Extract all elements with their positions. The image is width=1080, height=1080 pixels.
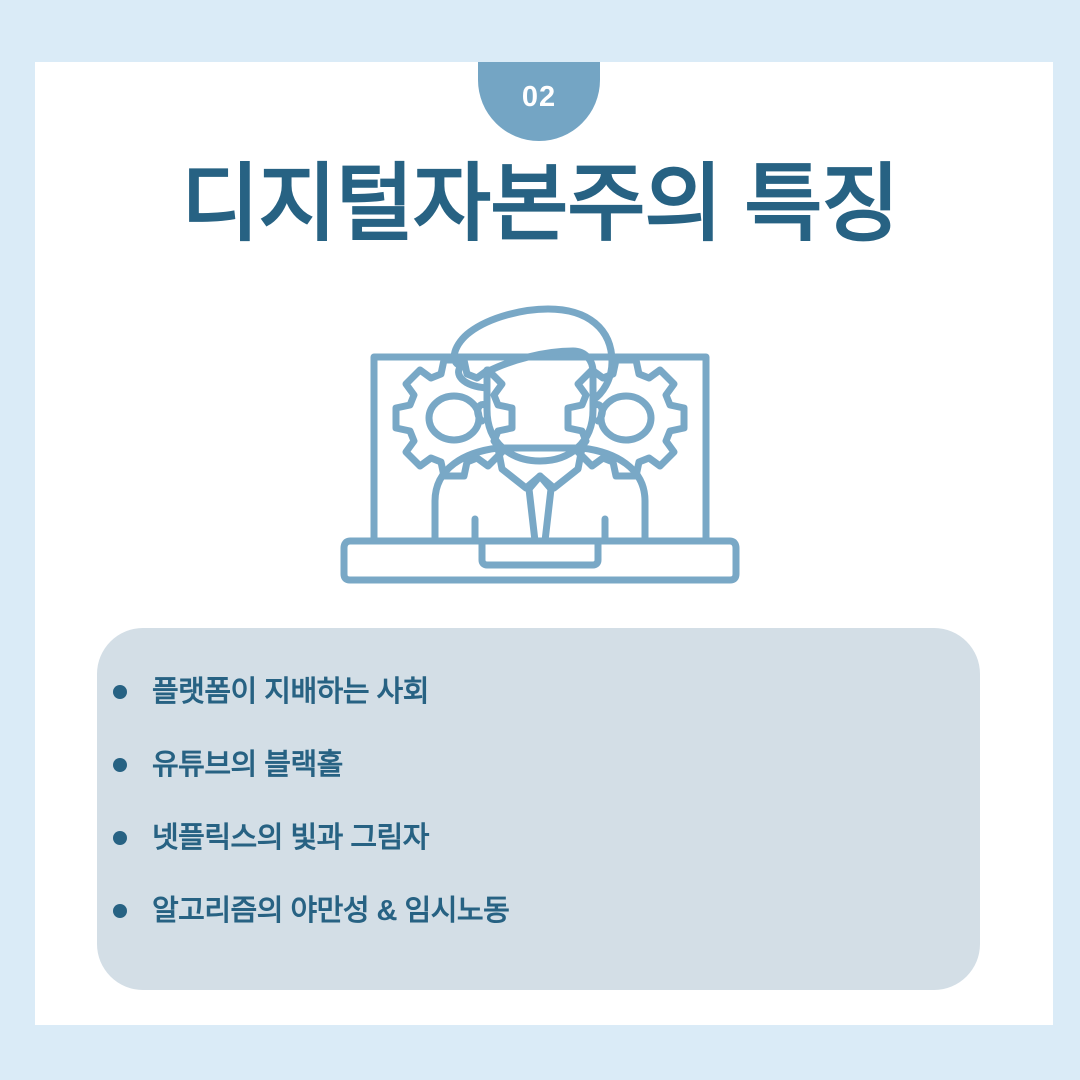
- laptop-base: [344, 541, 736, 580]
- bullet-dot-icon: [113, 831, 127, 845]
- businessman-laptop-gears-illustration: [330, 288, 750, 588]
- gear-left: [396, 360, 512, 476]
- list-item: 플랫폼이 지배하는 사회: [113, 664, 873, 720]
- list-item: 유튜브의 블랙홀: [113, 737, 873, 793]
- bullet-dot-icon: [113, 685, 127, 699]
- bullet-dot-icon: [113, 758, 127, 772]
- bullet-label: 넷플릭스의 빛과 그림자: [152, 824, 429, 853]
- list-item: 넷플릭스의 빛과 그림자: [113, 810, 873, 866]
- bullet-label: 유튜브의 블랙홀: [152, 751, 343, 780]
- page-title: 디지털자본주의 특징: [0, 156, 1080, 254]
- bullet-list: 플랫폼이 지배하는 사회 유튜브의 블랙홀 넷플릭스의 빛과 그림자 알고리즘의…: [113, 664, 873, 939]
- person-tie: [529, 476, 551, 541]
- gear-right: [568, 360, 684, 476]
- section-number-label: 02: [522, 83, 556, 112]
- bullet-label: 알고리즘의 야만성 & 임시노동: [152, 897, 509, 926]
- list-item: 알고리즘의 야만성 & 임시노동: [113, 883, 873, 939]
- laptop-trackpad: [482, 541, 598, 565]
- bullet-dot-icon: [113, 904, 127, 918]
- slide-root: 02 디지털자본주의 특징: [0, 0, 1080, 1080]
- bullet-label: 플랫폼이 지배하는 사회: [152, 678, 429, 707]
